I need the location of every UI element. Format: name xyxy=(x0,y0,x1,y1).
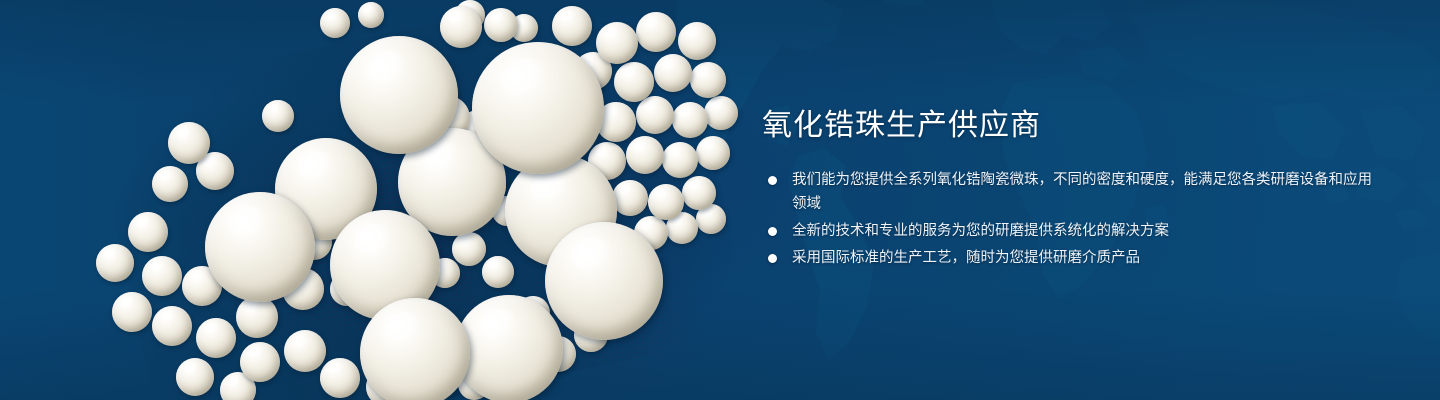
hero-banner: 氧化锆珠生产供应商 我们能为您提供全系列氧化锆陶瓷微珠，不同的密度和硬度，能满足… xyxy=(0,0,1440,400)
banner-copy-block: 氧化锆珠生产供应商 我们能为您提供全系列氧化锆陶瓷微珠，不同的密度和硬度，能满足… xyxy=(762,106,1382,273)
bullet-dot-icon xyxy=(768,176,777,185)
feature-bullet-text: 我们能为您提供全系列氧化锆陶瓷微珠，不同的密度和硬度，能满足您各类研磨设备和应用… xyxy=(792,168,1382,216)
bullet-dot-icon xyxy=(768,254,777,263)
feature-bullet-list: 我们能为您提供全系列氧化锆陶瓷微珠，不同的密度和硬度，能满足您各类研磨设备和应用… xyxy=(762,168,1382,270)
page-title: 氧化锆珠生产供应商 xyxy=(762,106,1382,146)
feature-bullet-text: 采用国际标准的生产工艺，随时为您提供研磨介质产品 xyxy=(792,246,1382,270)
feature-bullet-item: 采用国际标准的生产工艺，随时为您提供研磨介质产品 xyxy=(762,246,1382,270)
feature-bullet-text: 全新的技术和专业的服务为您的研磨提供系统化的解决方案 xyxy=(792,219,1382,243)
feature-bullet-item: 全新的技术和专业的服务为您的研磨提供系统化的解决方案 xyxy=(762,219,1382,243)
bullet-dot-icon xyxy=(768,227,777,236)
feature-bullet-item: 我们能为您提供全系列氧化锆陶瓷微珠，不同的密度和硬度，能满足您各类研磨设备和应用… xyxy=(762,168,1382,216)
